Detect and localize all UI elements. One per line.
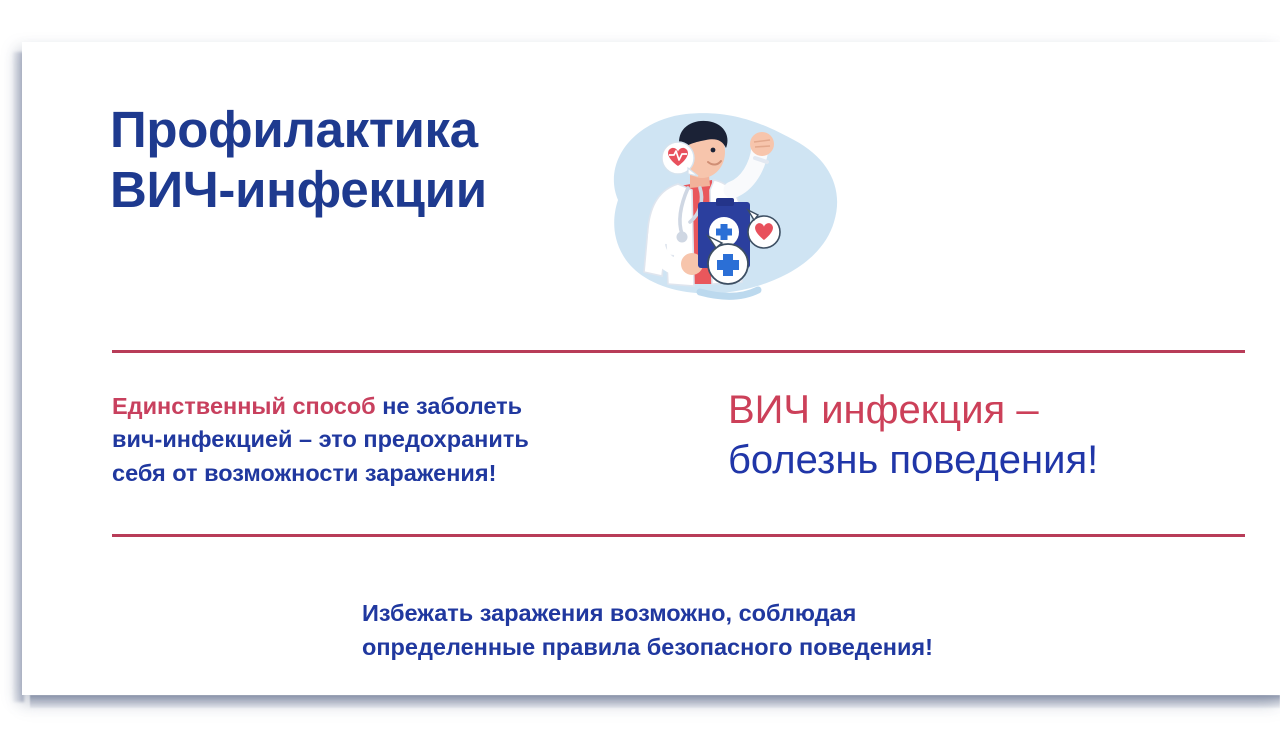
- left-paragraph-line-2: вич-инфекцией – это предохранить: [112, 423, 652, 456]
- left-paragraph-block: Единственный способ не заболеть вич-инфе…: [112, 390, 652, 490]
- divider-bottom: [112, 534, 1245, 537]
- right-headline-block: ВИЧ инфекция – болезнь поведения!: [728, 386, 1258, 485]
- bottom-caption-line-1: Избежать заражения возможно, соблюдая: [362, 597, 1102, 631]
- eye: [711, 148, 716, 153]
- right-headline-line-2: болезнь поведения!: [728, 436, 1258, 486]
- right-headline-line-1: ВИЧ инфекция –: [728, 386, 1258, 436]
- doctor-illustration: [582, 104, 852, 314]
- left-paragraph-line-1: Единственный способ не заболеть: [112, 390, 652, 423]
- slide-stage: Профилактика ВИЧ-инфекции: [0, 0, 1280, 740]
- page-title-line-1: Профилактика: [110, 100, 580, 160]
- left-paragraph-rest-1: не заболеть: [376, 393, 522, 419]
- hand-waving: [750, 132, 774, 156]
- slide-shadow-bottom: [30, 695, 1280, 708]
- slide-card: Профилактика ВИЧ-инфекции: [22, 42, 1280, 695]
- page-title-line-2: ВИЧ-инфекции: [110, 160, 580, 220]
- left-paragraph-accent: Единственный способ: [112, 393, 376, 419]
- left-paragraph-line-3: себя от возможности заражения!: [112, 457, 652, 490]
- bottom-caption-block: Избежать заражения возможно, соблюдая оп…: [362, 597, 1102, 665]
- page-title: Профилактика ВИЧ-инфекции: [110, 100, 580, 220]
- bottom-caption-line-2: определенные правила безопасного поведен…: [362, 631, 1102, 665]
- divider-top: [112, 350, 1245, 353]
